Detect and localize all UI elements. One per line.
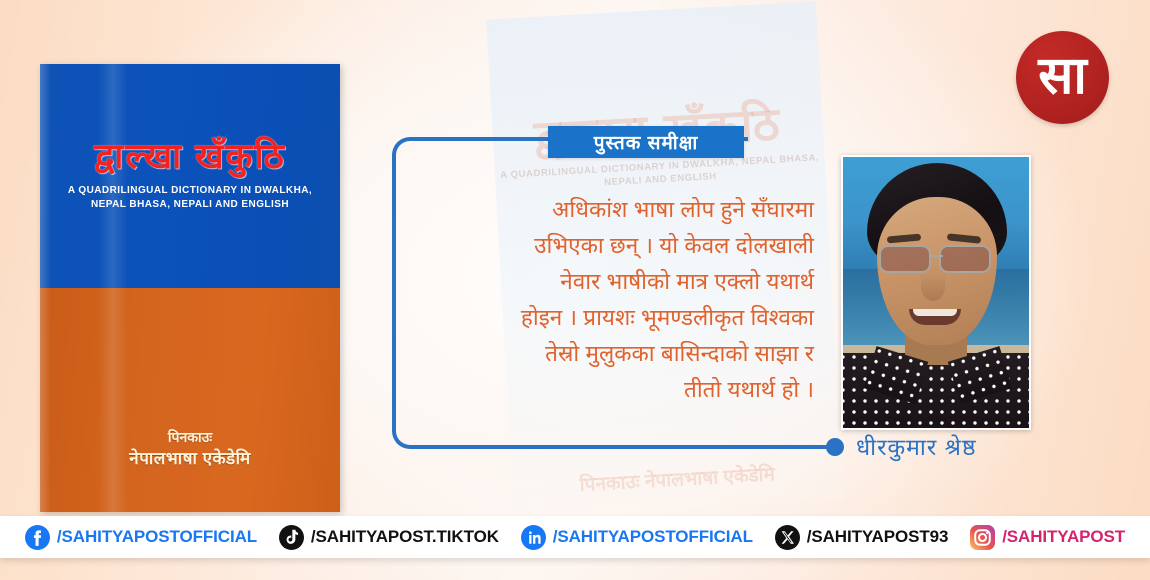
x-twitter-icon: [775, 525, 800, 550]
social-link-linkedin[interactable]: /SAHITYAPOSTOFFICIAL: [521, 525, 753, 550]
author-portrait-photo: [841, 155, 1031, 430]
review-quote-text: अधिकांश भाषा लोप हुने सँघारमा उभिएका छन्…: [414, 192, 814, 408]
instagram-icon: [970, 525, 995, 550]
portrait-teeth: [913, 309, 957, 316]
bracket-tail-line: [744, 445, 836, 449]
social-media-bar: /SAHITYAPOSTOFFICIAL /SAHITYAPOST.TIKTOK…: [0, 516, 1150, 558]
book-publisher-name: नेपालभाषा एकेडेमि: [40, 446, 340, 469]
book-review-badge: पुस्तक समीक्षा: [548, 126, 744, 158]
quote-line: उभिएका छन् । यो केवल दोलखाली: [414, 228, 814, 264]
portrait-nose: [921, 273, 945, 301]
quote-line: तेस्रो मुलुकका बासिन्दाको साझा र: [414, 336, 814, 372]
bracket-end-dot: [826, 438, 844, 456]
social-link-instagram[interactable]: /SAHITYAPOST: [970, 525, 1125, 550]
poster-canvas: द्वाल्खा खँकुठि A QUADRILINGUAL DICTIONA…: [0, 0, 1150, 580]
portrait-mouth: [909, 309, 961, 325]
book-cover-bottom-panel: [40, 288, 340, 512]
glasses-lens-right: [939, 245, 991, 273]
linkedin-icon: [521, 525, 546, 550]
facebook-icon: [25, 525, 50, 550]
quote-line: तीतो यथार्थ हो ।: [414, 372, 814, 408]
social-handle: /SAHITYAPOST: [1002, 527, 1125, 547]
author-name: धीरकुमार श्रेष्ठ: [856, 430, 977, 462]
logo-glyph: सा: [1038, 50, 1087, 102]
sahitya-post-logo: सा: [1016, 31, 1109, 124]
social-link-facebook[interactable]: /SAHITYAPOSTOFFICIAL: [25, 525, 257, 550]
quote-line: नेवार भाषीको मात्र एक्लो यथार्थ: [414, 264, 814, 300]
social-handle: /SAHITYAPOSTOFFICIAL: [553, 527, 753, 547]
social-link-tiktok[interactable]: /SAHITYAPOST.TIKTOK: [279, 525, 499, 550]
glasses-lens-left: [879, 245, 931, 273]
watermark-publisher: पिनकाउः नेपालभाषा एकेडेमि: [512, 460, 843, 500]
social-link-x[interactable]: /SAHITYAPOST93: [775, 525, 949, 550]
portrait-glasses: [873, 245, 1001, 275]
social-handle: /SAHITYAPOSTOFFICIAL: [57, 527, 257, 547]
book-cover-image: द्वाल्खा खँकुठि A QUADRILINGUAL DICTIONA…: [40, 64, 340, 512]
social-handle: /SAHITYAPOST93: [807, 527, 949, 547]
quote-line: होइन । प्रायशः भूमण्डलीकृत विश्वका: [414, 300, 814, 336]
social-handle: /SAHITYAPOST.TIKTOK: [311, 527, 499, 547]
tiktok-icon: [279, 525, 304, 550]
glasses-bridge: [931, 255, 943, 257]
quote-line: अधिकांश भाषा लोप हुने सँघारमा: [414, 192, 814, 228]
book-title: द्वाल्खा खँकुठि: [40, 132, 340, 179]
book-subtitle: A QUADRILINGUAL DICTIONARY IN DWALKHA, N…: [58, 184, 322, 212]
book-publisher-label: पिनकाउः: [40, 428, 340, 447]
